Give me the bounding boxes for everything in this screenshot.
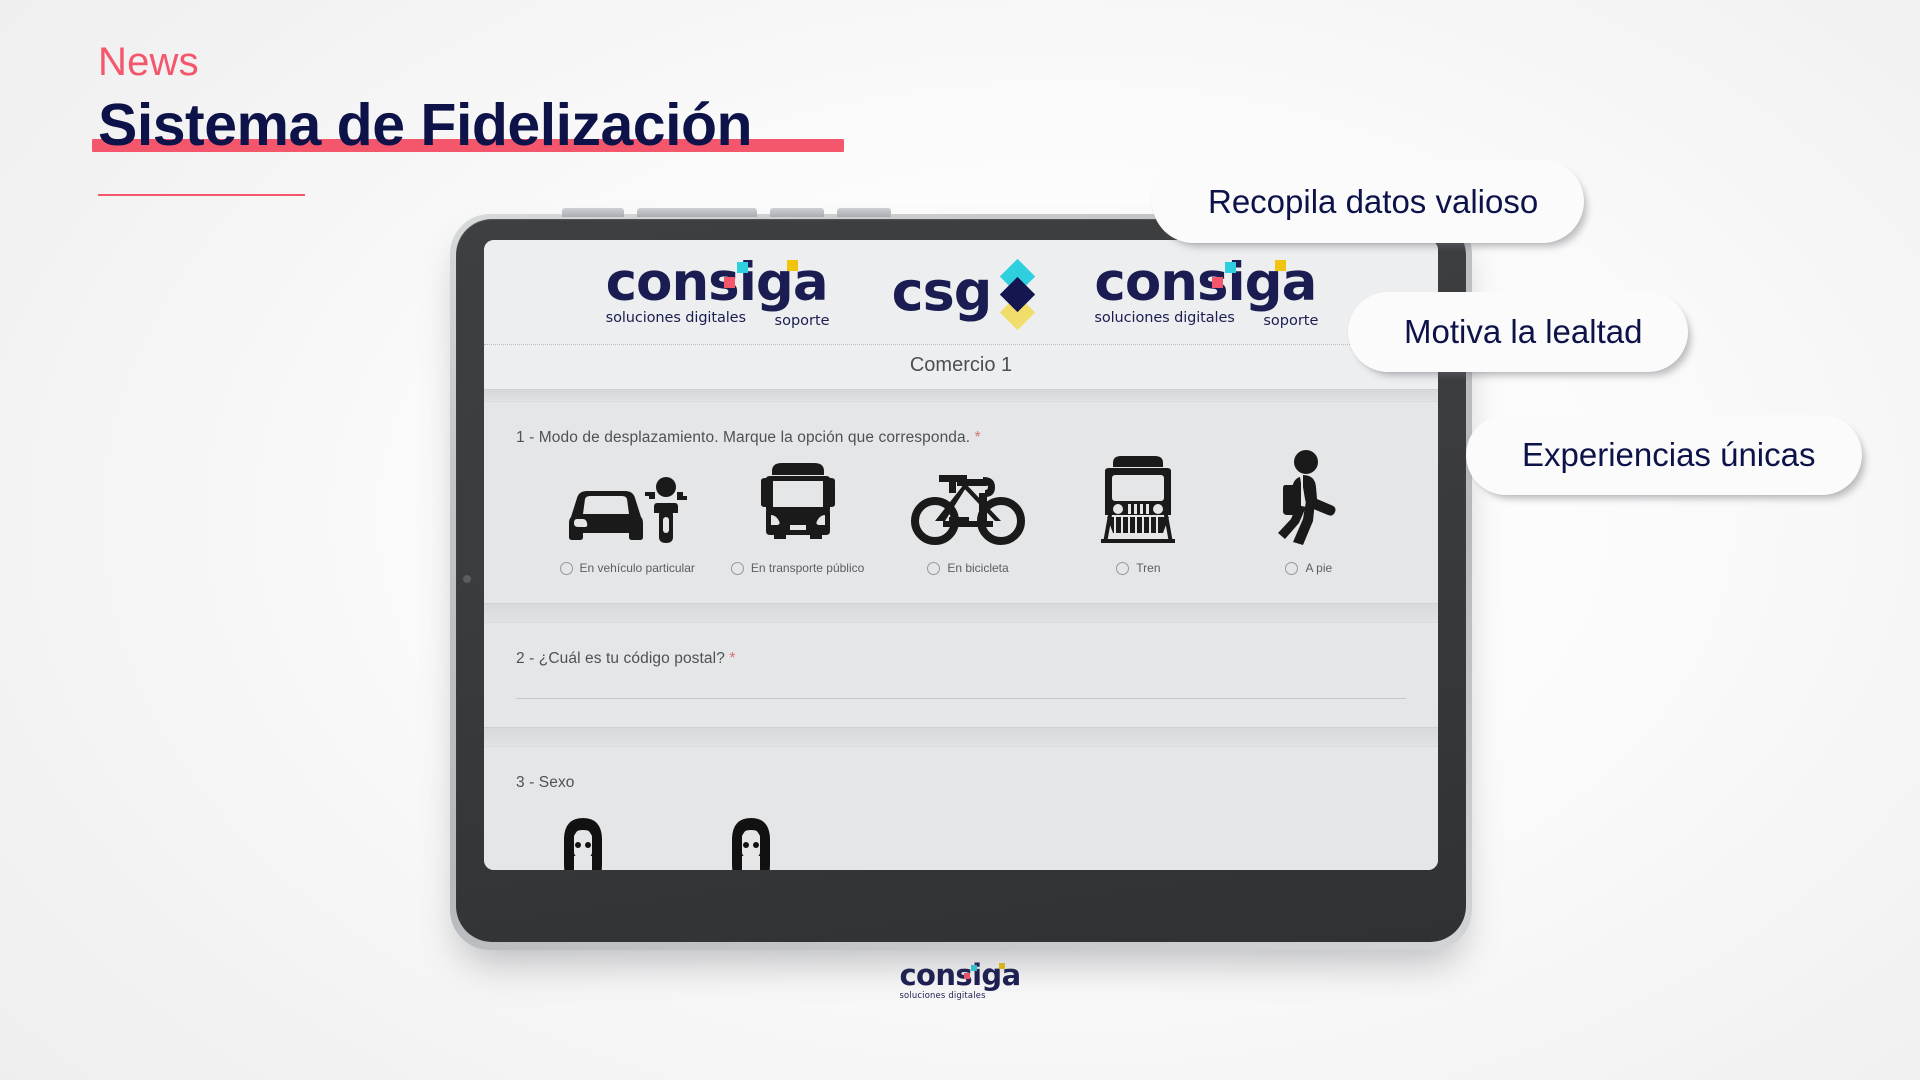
train-icon (1095, 449, 1181, 547)
brand-square-pink-icon (1212, 277, 1223, 288)
option-bicicleta[interactable]: En bicicleta (883, 449, 1053, 575)
radio-vehiculo-particular[interactable] (560, 562, 573, 575)
brand-logo-consiga-left: consiga soluciones digitales soporte (606, 258, 828, 325)
option-transporte-publico[interactable]: En transporte público (712, 449, 882, 575)
option-a-pie[interactable]: A pie (1224, 449, 1394, 575)
section-divider (484, 603, 1438, 623)
tablet-volume-up-button[interactable] (770, 208, 824, 217)
car-and-motorcycle-icon (563, 449, 691, 547)
question-1-options: En vehículo particular (484, 447, 1438, 575)
radio-transporte-publico[interactable] (731, 562, 744, 575)
option-a-pie-label: A pie (1305, 561, 1332, 575)
question-3-label: 3 - Sexo (484, 774, 1438, 792)
form-brand-header: consiga soluciones digitales soporte csg… (484, 240, 1438, 344)
brand-square-pink-icon (724, 277, 735, 288)
question-block-1: 1 - Modo de desplazamiento. Marque la op… (484, 402, 1438, 623)
required-asterisk: * (729, 650, 735, 667)
question-3-options (484, 792, 1438, 870)
brand-square-yellow-icon (1275, 260, 1286, 271)
brand-square-cyan-icon (971, 965, 977, 971)
required-asterisk: * (975, 429, 981, 446)
brand-square-yellow-icon (999, 963, 1005, 969)
callout-pill-1[interactable]: Recopila datos valioso (1152, 160, 1584, 243)
question-1-text: 1 - Modo de desplazamiento. Marque la op… (516, 429, 970, 446)
callout-pill-3-label: Experiencias únicas (1522, 436, 1816, 474)
tablet-speaker-grille (637, 208, 757, 217)
camera-dot-icon (463, 575, 471, 583)
brand-tagline: soluciones digitales (899, 991, 1020, 999)
footer-brand-logo: consiga soluciones digitales (0, 962, 1920, 1000)
walking-person-icon (1273, 449, 1345, 547)
slide-kicker: News (98, 42, 752, 82)
option-vehiculo-particular-control[interactable]: En vehículo particular (560, 561, 695, 575)
question-2-label: 2 - ¿Cuál es tu código postal? * (484, 650, 1438, 668)
callout-pill-2[interactable]: Motiva la lealtad (1348, 292, 1688, 372)
female-avatar-icon-2[interactable] (720, 816, 782, 870)
brand-square-cyan-icon (1225, 262, 1236, 273)
option-vehiculo-particular-label: En vehículo particular (580, 561, 695, 575)
page-title: Sistema de Fidelización (98, 95, 752, 157)
option-bicicleta-control[interactable]: En bicicleta (927, 561, 1008, 575)
brand-logo-csg: csg (892, 262, 1031, 323)
radio-bicicleta[interactable] (927, 562, 940, 575)
slide-heading: News Sistema de Fidelización (98, 42, 752, 196)
bicycle-icon (909, 449, 1027, 547)
brand-square-yellow-icon (787, 260, 798, 271)
slide-title-wrap: Sistema de Fidelización (98, 95, 752, 157)
store-name-label: Comercio 1 (910, 354, 1012, 376)
bus-icon (752, 449, 844, 547)
tablet-volume-down-button[interactable] (837, 208, 891, 217)
option-tren-label: Tren (1136, 561, 1160, 575)
option-a-pie-control[interactable]: A pie (1285, 561, 1332, 575)
brand-logo-consiga-right: consiga soluciones digitales soporte (1094, 258, 1316, 325)
option-transporte-publico-label: En transporte público (751, 561, 864, 575)
question-block-3: 3 - Sexo (484, 747, 1438, 870)
option-tren-control[interactable]: Tren (1116, 561, 1160, 575)
brand-square-cyan-icon (737, 262, 748, 273)
question-3-text: 3 - Sexo (516, 774, 575, 791)
radio-tren[interactable] (1116, 562, 1129, 575)
question-1-label: 1 - Modo de desplazamiento. Marque la op… (484, 429, 1438, 447)
callout-pill-1-label: Recopila datos valioso (1208, 183, 1538, 221)
brand-suffix-soporte: soporte (775, 313, 830, 329)
tablet-top-buttons[interactable] (562, 208, 892, 217)
callout-pill-2-label: Motiva la lealtad (1404, 313, 1642, 351)
callout-pill-3[interactable]: Experiencias únicas (1466, 415, 1862, 495)
section-divider (484, 727, 1438, 747)
title-rule-divider (98, 194, 305, 196)
option-bicicleta-label: En bicicleta (947, 561, 1008, 575)
brand-wordmark-csg: csg (892, 267, 992, 318)
brand-suffix-soporte: soporte (1263, 313, 1318, 329)
brand-diamond-icon (1005, 264, 1030, 325)
question-2-text: 2 - ¿Cuál es tu código postal? (516, 650, 725, 667)
question-block-2: 2 - ¿Cuál es tu código postal? * (484, 623, 1438, 747)
option-vehiculo-particular[interactable]: En vehículo particular (542, 449, 712, 575)
brand-logo-consiga-footer: consiga soluciones digitales (899, 962, 1020, 1000)
option-transporte-publico-control[interactable]: En transporte público (731, 561, 864, 575)
tablet-power-button[interactable] (562, 208, 624, 217)
tablet-screen: consiga soluciones digitales soporte csg… (484, 240, 1438, 870)
section-divider (484, 389, 1438, 402)
brand-square-pink-icon (964, 973, 970, 979)
radio-a-pie[interactable] (1285, 562, 1298, 575)
postal-code-input[interactable] (516, 698, 1406, 699)
female-avatar-icon-1[interactable] (552, 816, 614, 870)
option-tren[interactable]: Tren (1053, 449, 1223, 575)
tablet-device-mockup: consiga soluciones digitales soporte csg… (450, 214, 1472, 950)
store-name-header: Comercio 1 (484, 344, 1438, 389)
